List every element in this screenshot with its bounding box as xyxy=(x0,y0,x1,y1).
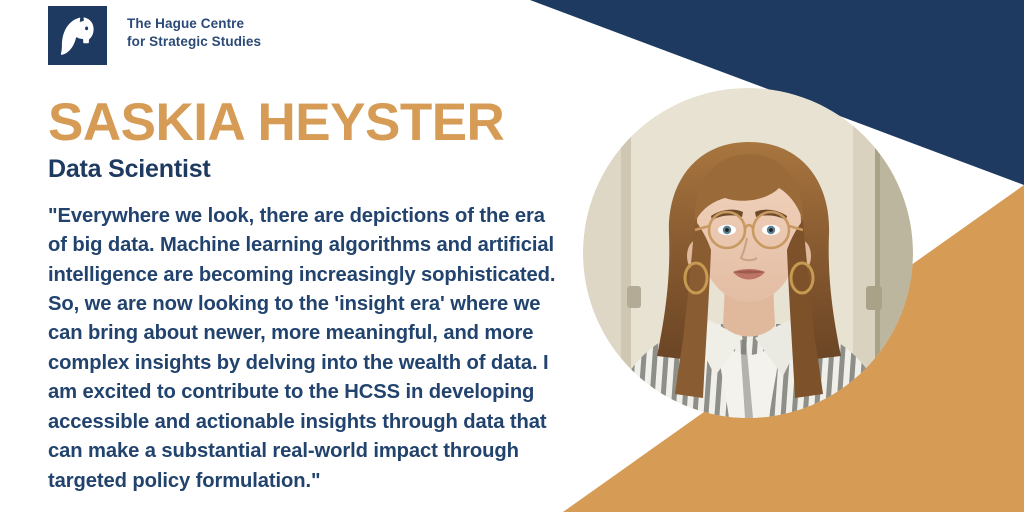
person-quote: "Everywhere we look, there are depiction… xyxy=(48,202,566,497)
person-role: Data Scientist xyxy=(48,156,568,184)
person-portrait xyxy=(583,88,913,418)
speaker-quote-card: The Hague Centre for Strategic Studies S… xyxy=(0,0,1024,512)
person-name: SASKIA HEYSTER xyxy=(48,96,568,150)
horse-head-logo-icon xyxy=(48,6,107,65)
logo-lockup[interactable]: The Hague Centre for Strategic Studies xyxy=(48,6,261,65)
speaker-text-column: SASKIA HEYSTER Data Scientist "Everywher… xyxy=(48,96,568,496)
organization-wordmark: The Hague Centre for Strategic Studies xyxy=(127,15,261,51)
